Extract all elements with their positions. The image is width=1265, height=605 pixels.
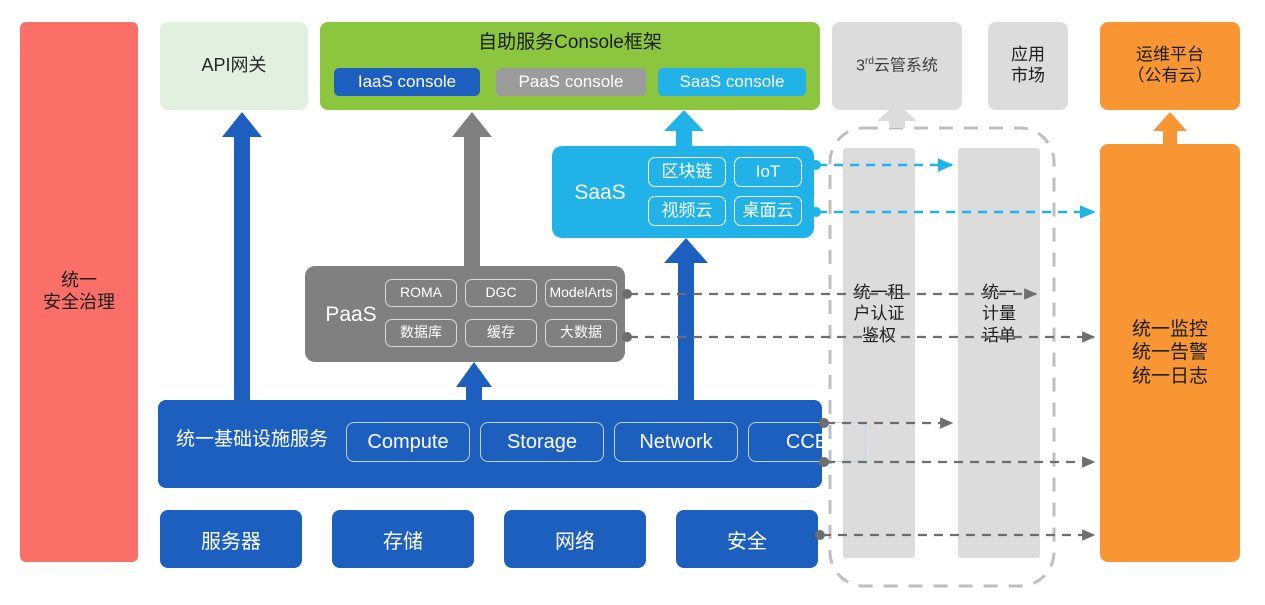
- ops-platform-label: 运维平台 （公有云）: [1128, 45, 1213, 86]
- arrow-infra-to-saas: [664, 238, 708, 400]
- saas-service-iot[interactable]: IoT: [734, 157, 802, 187]
- infra-service-network[interactable]: Network: [614, 422, 738, 462]
- third-party-rest: 云管系统: [874, 57, 938, 74]
- saas-service-blockchain[interactable]: 区块链: [648, 157, 726, 187]
- saas-console-chip[interactable]: SaaS console: [658, 68, 806, 96]
- metering-billing-pillar: [958, 148, 1040, 558]
- paas-service-cache[interactable]: 缓存: [465, 319, 537, 347]
- console-framework-title: 自助服务Console框架: [320, 31, 820, 54]
- infra-service-compute[interactable]: Compute: [346, 422, 470, 462]
- paas-service-database[interactable]: 数据库: [385, 319, 457, 347]
- paas-service-cache-label: 缓存: [487, 324, 515, 341]
- unified-monitoring-panel: 统一监控 统一告警 统一日志: [1100, 144, 1240, 562]
- paas-service-roma-label: ROMA: [400, 284, 442, 301]
- third-party-cloud-mgmt-box: 3rd云管系统: [832, 22, 962, 110]
- paas-layer-label: PaaS: [315, 302, 387, 328]
- paas-service-modelarts[interactable]: ModelArts: [545, 279, 617, 307]
- saas-console-label: SaaS console: [680, 72, 785, 93]
- resource-box-network: 网络: [504, 510, 646, 568]
- arrow-ops-panel-to-ops-platform: [1153, 112, 1187, 144]
- saas-service-iot-label: IoT: [756, 162, 781, 183]
- ops-platform-box: 运维平台 （公有云）: [1100, 22, 1240, 110]
- iaas-console-label: IaaS console: [358, 72, 456, 93]
- app-market-label: 应用 市场: [1011, 45, 1045, 86]
- security-governance-panel: 统一 安全治理: [20, 22, 138, 562]
- paas-layer-box: PaaS ROMA DGC ModelArts 数据库 缓存 大数据: [305, 266, 625, 362]
- saas-layer-label: SaaS: [564, 180, 636, 206]
- infra-service-storage[interactable]: Storage: [480, 422, 604, 462]
- resource-box-storage: 存储: [332, 510, 474, 568]
- unified-infrastructure-label: 统一基础设施服务: [176, 428, 328, 451]
- saas-service-blockchain-label: 区块链: [662, 162, 713, 183]
- arrow-infra-to-api-gateway: [222, 112, 262, 400]
- unified-infrastructure-bar: 统一基础设施服务 Compute Storage Network CCE: [158, 400, 822, 488]
- iaas-console-chip[interactable]: IaaS console: [334, 68, 480, 96]
- resource-box-security: 安全: [676, 510, 818, 568]
- resource-box-storage-label: 存储: [383, 525, 423, 554]
- architecture-diagram: 统一 安全治理 API网关 自助服务Console框架 IaaS console…: [0, 0, 1265, 605]
- tenant-auth-pillar-label: 统一租 户认证 鉴权: [843, 282, 915, 346]
- console-framework-box: 自助服务Console框架 IaaS console PaaS console …: [320, 22, 820, 110]
- resource-box-security-label: 安全: [727, 525, 767, 554]
- resource-box-server: 服务器: [160, 510, 302, 568]
- paas-service-bigdata[interactable]: 大数据: [545, 319, 617, 347]
- arrow-paas-to-console: [452, 112, 492, 266]
- saas-service-video-cloud[interactable]: 视频云: [648, 196, 726, 226]
- paas-service-modelarts-label: ModelArts: [549, 284, 612, 301]
- third-party-prefix: 3: [856, 57, 865, 74]
- unified-monitoring-label: 统一监控 统一告警 统一日志: [1132, 318, 1208, 388]
- api-gateway-box: API网关: [160, 22, 308, 110]
- metering-billing-pillar-label: 统一 计量 话单: [958, 282, 1040, 346]
- paas-service-bigdata-label: 大数据: [560, 324, 602, 341]
- infra-service-compute-label: Compute: [367, 430, 448, 454]
- paas-service-roma[interactable]: ROMA: [385, 279, 457, 307]
- paas-service-dgc-label: DGC: [485, 284, 516, 301]
- paas-service-dgc[interactable]: DGC: [465, 279, 537, 307]
- resource-box-server-label: 服务器: [201, 525, 261, 554]
- paas-console-label: PaaS console: [519, 72, 624, 93]
- infra-service-cce-label: CCE: [786, 430, 828, 454]
- arrow-infra-to-paas: [456, 362, 492, 400]
- paas-console-chip[interactable]: PaaS console: [496, 68, 646, 96]
- arrow-saas-to-saas-console: [664, 110, 704, 146]
- saas-layer-box: SaaS 区块链 IoT 视频云 桌面云: [552, 146, 814, 238]
- tenant-auth-pillar: [843, 148, 915, 558]
- app-market-box: 应用 市场: [988, 22, 1068, 110]
- saas-service-video-cloud-label: 视频云: [662, 201, 713, 222]
- infra-service-network-label: Network: [639, 430, 712, 454]
- third-party-superscript: rd: [865, 56, 874, 67]
- saas-service-desktop-cloud-label: 桌面云: [743, 201, 794, 222]
- api-gateway-label: API网关: [201, 55, 266, 77]
- paas-service-database-label: 数据库: [400, 324, 442, 341]
- saas-service-desktop-cloud[interactable]: 桌面云: [734, 196, 802, 226]
- third-party-cloud-mgmt-label: 3rd云管系统: [856, 56, 938, 76]
- resource-box-network-label: 网络: [555, 525, 595, 554]
- security-governance-label: 统一 安全治理: [43, 270, 115, 314]
- infra-service-cce[interactable]: CCE: [748, 422, 866, 462]
- infra-service-storage-label: Storage: [507, 430, 577, 454]
